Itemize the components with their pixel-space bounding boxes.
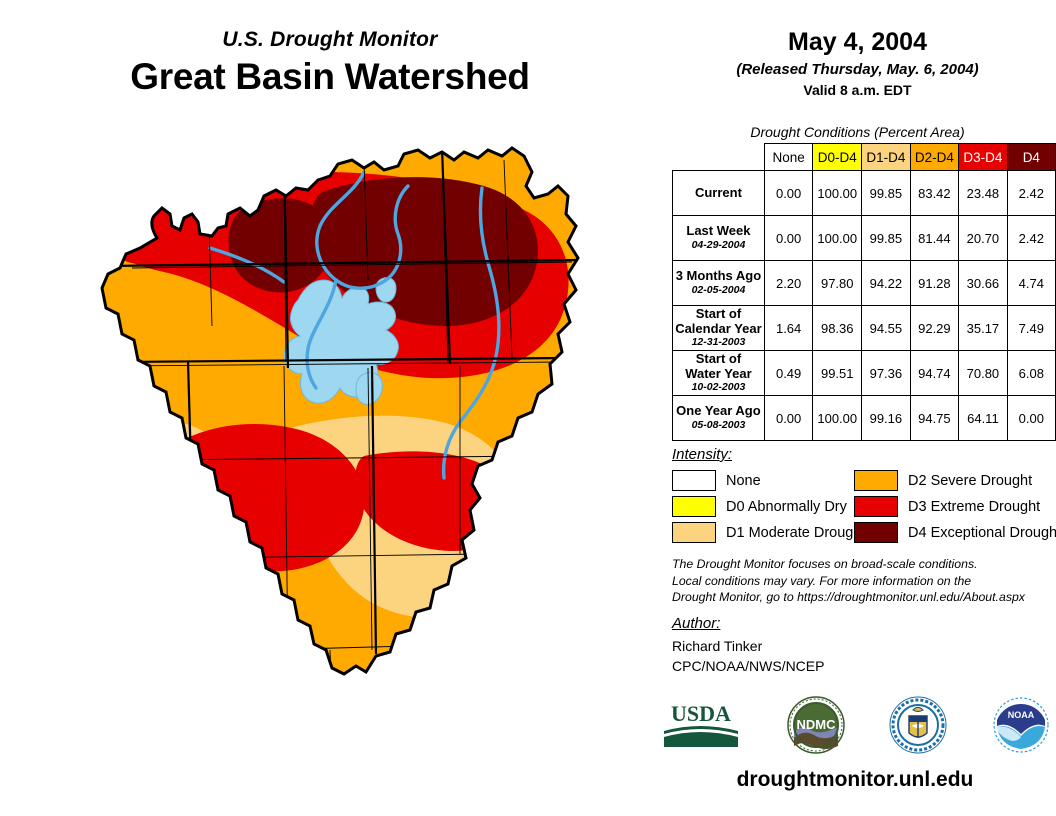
legend-item: D1 Moderate Drought [672, 520, 854, 545]
disclaimer-line: The Drought Monitor focuses on broad-sca… [672, 556, 1052, 573]
legend-swatch [854, 522, 898, 543]
table-cell: 0.00 [764, 171, 813, 216]
map-svg [12, 130, 662, 810]
legend-swatch [854, 496, 898, 517]
table-cell: 0.00 [764, 216, 813, 261]
table-row: Start ofCalendar Year12-31-20031.6498.36… [673, 306, 1056, 351]
table-row: Start ofWater Year10-02-20030.4999.5197.… [673, 351, 1056, 396]
valid-time: Valid 8 a.m. EDT [665, 82, 1050, 98]
table-row-date: 05-08-2003 [673, 420, 764, 432]
table-cell: 94.55 [862, 306, 911, 351]
watershed-map [12, 130, 662, 810]
table-cell: 2.42 [1007, 216, 1055, 261]
author-name: Richard Tinker [672, 637, 824, 657]
table-cell: 99.51 [813, 351, 862, 396]
legend-label: D3 Extreme Drought [908, 499, 1040, 515]
table-cell: 2.20 [764, 261, 813, 306]
legend-swatch [854, 470, 898, 491]
table-cell: 20.70 [959, 216, 1008, 261]
table-corner-cell [673, 144, 765, 171]
table-col-header-d4: D4 [1007, 144, 1055, 171]
svg-text:NOAA: NOAA [1008, 710, 1035, 720]
usdc-seal-logo [889, 696, 947, 754]
table-cell: 83.42 [910, 171, 959, 216]
legend-item: None [672, 468, 854, 493]
drought-conditions-table: NoneD0-D4D1-D4D2-D4D3-D4D4 Current0.0010… [672, 143, 1056, 441]
table-cell: 97.80 [813, 261, 862, 306]
great-basin-watershed-drought-map [12, 130, 662, 810]
table-header: NoneD0-D4D1-D4D2-D4D3-D4D4 [673, 144, 1056, 171]
table-row-date: 12-31-2003 [673, 337, 764, 349]
table-cell: 0.00 [1007, 396, 1055, 441]
disclaimer-text: The Drought Monitor focuses on broad-sca… [672, 556, 1052, 606]
table-cell: 97.36 [862, 351, 911, 396]
logo-row: USDA NDMC [660, 694, 1050, 756]
lake-tahoe [85, 446, 114, 494]
map-title-block: U.S. Drought Monitor Great Basin Watersh… [0, 28, 660, 98]
table-row-label: Last Week04-29-2004 [673, 216, 765, 261]
table-cell: 99.85 [862, 171, 911, 216]
table-row: Current0.00100.0099.8583.4223.482.42 [673, 171, 1056, 216]
region-d3-central [156, 424, 364, 572]
table-cell: 91.28 [910, 261, 959, 306]
table-row-label: Start ofWater Year10-02-2003 [673, 351, 765, 396]
table-row-date: 02-05-2004 [673, 285, 764, 297]
table-cell: 81.44 [910, 216, 959, 261]
legend-swatch [672, 496, 716, 517]
legend-label: D2 Severe Drought [908, 473, 1032, 489]
table-cell: 64.11 [959, 396, 1008, 441]
table-body: Current0.00100.0099.8583.4223.482.42Last… [673, 171, 1056, 441]
table-cell: 94.22 [862, 261, 911, 306]
table-cell: 30.66 [959, 261, 1008, 306]
table-row-date: 10-02-2003 [673, 382, 764, 394]
table-cell: 100.00 [813, 171, 862, 216]
table-cell: 70.80 [959, 351, 1008, 396]
disclaimer-line: Local conditions may vary. For more info… [672, 573, 1052, 590]
svg-text:NDMC: NDMC [796, 717, 836, 732]
table-cell: 35.17 [959, 306, 1008, 351]
legend-label: D4 Exceptional Drought [908, 525, 1056, 541]
legend-swatch [672, 522, 716, 543]
table-row-date: 04-29-2004 [673, 240, 764, 252]
pyramid-lake [104, 405, 118, 426]
legend-label: None [726, 473, 761, 489]
release-date: (Released Thursday, May. 6, 2004) [665, 61, 1050, 78]
table-caption: Drought Conditions (Percent Area) [665, 124, 1050, 140]
author-heading: Author: [672, 615, 720, 632]
table-cell: 0.00 [764, 396, 813, 441]
author-affiliation: CPC/NOAA/NWS/NCEP [672, 657, 824, 677]
page-title: Great Basin Watershed [0, 56, 660, 98]
intensity-heading: Intensity: [672, 446, 732, 463]
table-col-header-none: None [764, 144, 813, 171]
table-row-label: Current [673, 171, 765, 216]
usda-logo: USDA [660, 696, 742, 754]
table-row: One Year Ago05-08-20030.00100.0099.1694.… [673, 396, 1056, 441]
legend-item: D4 Exceptional Drought [854, 520, 1042, 545]
report-date: May 4, 2004 [665, 28, 1050, 57]
table-cell: 100.00 [813, 216, 862, 261]
table-cell: 99.85 [862, 216, 911, 261]
date-block: May 4, 2004 (Released Thursday, May. 6, … [665, 28, 1050, 98]
intensity-legend: NoneD2 Severe DroughtD0 Abnormally DryD3… [672, 468, 1042, 545]
ndmc-logo: NDMC [787, 696, 845, 754]
author-block: Richard Tinker CPC/NOAA/NWS/NCEP [672, 637, 824, 677]
table-col-header-d3-d4: D3-D4 [959, 144, 1008, 171]
drought-regions [12, 130, 662, 810]
table-row: Last Week04-29-20040.00100.0099.8581.442… [673, 216, 1056, 261]
region-d1-southwest [51, 426, 180, 560]
table-cell: 98.36 [813, 306, 862, 351]
legend-label: D1 Moderate Drought [726, 525, 865, 541]
table-cell: 7.49 [1007, 306, 1055, 351]
legend-label: D0 Abnormally Dry [726, 499, 847, 515]
table-col-header-d0-d4: D0-D4 [813, 144, 862, 171]
table-cell: 94.75 [910, 396, 959, 441]
website-url: droughtmonitor.unl.edu [660, 768, 1050, 792]
table-cell: 100.00 [813, 396, 862, 441]
table-cell: 4.74 [1007, 261, 1055, 306]
table-row: 3 Months Ago02-05-20042.2097.8094.2291.2… [673, 261, 1056, 306]
table-row-label: One Year Ago05-08-2003 [673, 396, 765, 441]
noaa-logo: NOAA [992, 696, 1050, 754]
table-row-label: 3 Months Ago02-05-2004 [673, 261, 765, 306]
table-row-label: Start ofCalendar Year12-31-2003 [673, 306, 765, 351]
legend-swatch [672, 470, 716, 491]
title-subheading: U.S. Drought Monitor [0, 28, 660, 52]
legend-item: D2 Severe Drought [854, 468, 1042, 493]
disclaimer-line: Drought Monitor, go to https://droughtmo… [672, 589, 1052, 606]
table-col-header-d2-d4: D2-D4 [910, 144, 959, 171]
legend-item: D0 Abnormally Dry [672, 494, 854, 519]
svg-text:USDA: USDA [671, 701, 731, 726]
table-cell: 1.64 [764, 306, 813, 351]
table-cell: 94.74 [910, 351, 959, 396]
table-cell: 23.48 [959, 171, 1008, 216]
table-col-header-d1-d4: D1-D4 [862, 144, 911, 171]
table-cell: 2.42 [1007, 171, 1055, 216]
table-cell: 6.08 [1007, 351, 1055, 396]
table-cell: 99.16 [862, 396, 911, 441]
table-cell: 92.29 [910, 306, 959, 351]
table-cell: 0.49 [764, 351, 813, 396]
table-header-row: NoneD0-D4D1-D4D2-D4D3-D4D4 [673, 144, 1056, 171]
legend-item: D3 Extreme Drought [854, 494, 1042, 519]
